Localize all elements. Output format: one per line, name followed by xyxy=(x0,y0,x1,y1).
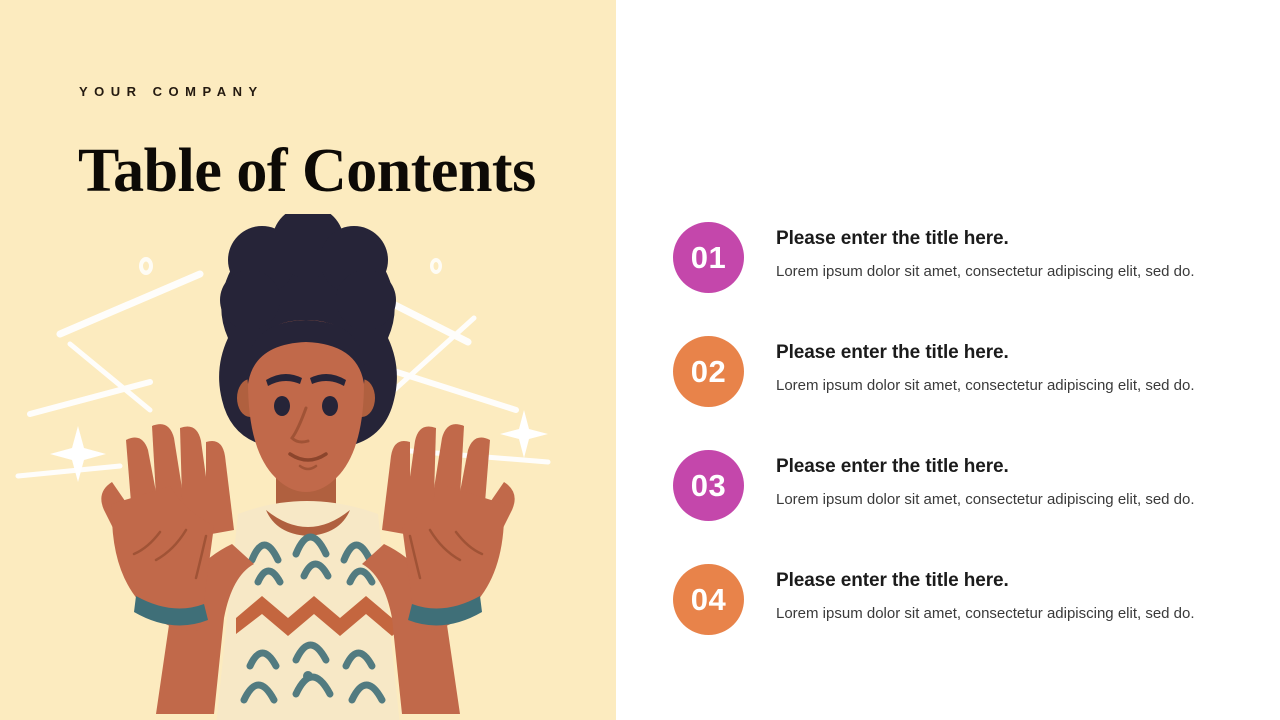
toc-title-03: Please enter the title here. xyxy=(776,456,1236,479)
list-item[interactable]: 03 Please enter the title here. Lorem ip… xyxy=(673,450,1233,521)
slide-table-of-contents: YOUR COMPANY Table of Contents xyxy=(0,0,1280,720)
toc-desc-03: Lorem ipsum dolor sit amet, consectetur … xyxy=(776,490,1236,510)
toc-title-04: Please enter the title here. xyxy=(776,570,1236,593)
woman-with-raised-hands-illustration xyxy=(0,214,616,720)
toc-text-01: Please enter the title here. Lorem ipsum… xyxy=(776,228,1236,281)
left-panel: YOUR COMPANY Table of Contents xyxy=(0,0,616,720)
company-eyebrow: YOUR COMPANY xyxy=(79,84,264,99)
toc-number-badge-04: 04 xyxy=(673,564,744,635)
list-item[interactable]: 04 Please enter the title here. Lorem ip… xyxy=(673,564,1233,635)
toc-desc-02: Lorem ipsum dolor sit amet, consectetur … xyxy=(776,376,1236,396)
list-item[interactable]: 01 Please enter the title here. Lorem ip… xyxy=(673,222,1233,293)
table-of-contents-list: 01 Please enter the title here. Lorem ip… xyxy=(673,222,1233,635)
toc-title-02: Please enter the title here. xyxy=(776,342,1236,365)
toc-number-badge-01: 01 xyxy=(673,222,744,293)
page-title: Table of Contents xyxy=(78,140,536,202)
toc-text-02: Please enter the title here. Lorem ipsum… xyxy=(776,342,1236,395)
toc-text-04: Please enter the title here. Lorem ipsum… xyxy=(776,570,1236,623)
toc-number-badge-03: 03 xyxy=(673,450,744,521)
toc-desc-01: Lorem ipsum dolor sit amet, consectetur … xyxy=(776,262,1236,282)
toc-title-01: Please enter the title here. xyxy=(776,228,1236,251)
toc-number-badge-02: 02 xyxy=(673,336,744,407)
toc-text-03: Please enter the title here. Lorem ipsum… xyxy=(776,456,1236,509)
list-item[interactable]: 02 Please enter the title here. Lorem ip… xyxy=(673,336,1233,407)
toc-desc-04: Lorem ipsum dolor sit amet, consectetur … xyxy=(776,604,1236,624)
